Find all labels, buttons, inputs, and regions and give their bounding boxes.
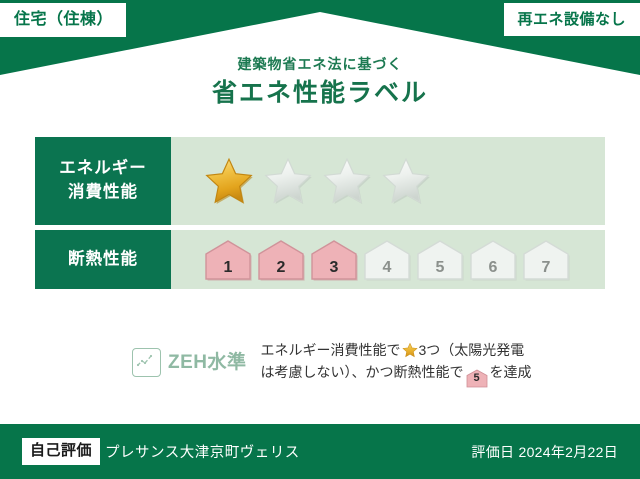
insulation-level-5: 5 — [415, 237, 465, 282]
insulation-level-4: 4 — [362, 237, 412, 282]
zeh-note-star-count: 3つ（太陽光発電 — [419, 342, 525, 358]
inline-insulation-house-icon: 5 — [466, 369, 488, 386]
insulation-level-value: 4 — [383, 260, 392, 282]
star-empty-icon — [321, 156, 373, 206]
performance-rows: エネルギー 消費性能 断熱性能 1234567 — [35, 137, 605, 289]
zeh-note-part2: は考慮しない）、かつ断熱性能で — [261, 364, 464, 380]
row-energy-label-line2: 消費性能 — [68, 181, 138, 205]
insulation-level-value: 3 — [330, 260, 339, 282]
building-name: プレサンス大津京町ヴェリス — [105, 441, 300, 462]
row-energy-performance: エネルギー 消費性能 — [35, 137, 605, 225]
page-title: 省エネ性能ラベル — [0, 78, 640, 109]
star-filled-icon — [203, 156, 255, 206]
star-empty-icon — [380, 156, 432, 206]
zeh-description: エネルギー消費性能で3つ（太陽光発電 は考慮しない）、かつ断熱性能で5を達成 — [261, 340, 562, 386]
row-energy-label: エネルギー 消費性能 — [35, 137, 171, 225]
title-block: 建築物省エネ法に基づく 省エネ性能ラベル — [0, 57, 640, 110]
insulation-level-1: 1 — [203, 237, 253, 282]
zeh-label: ZEH水準 — [168, 353, 247, 372]
insulation-level-value: 5 — [436, 260, 445, 282]
zeh-note-part1: エネルギー消費性能で — [261, 342, 401, 358]
self-evaluation-badge: 自己評価 — [22, 438, 100, 465]
insulation-level-3: 3 — [309, 237, 359, 282]
insulation-level-value: 1 — [224, 260, 233, 282]
insulation-level-value: 6 — [489, 260, 498, 282]
badge-building-type: 住宅（住棟） — [0, 3, 126, 37]
star-empty-icon — [262, 156, 314, 206]
row-insulation-value: 1234567 — [171, 230, 605, 289]
insulation-level-scale: 1234567 — [203, 237, 571, 282]
title-subtitle: 建築物省エネ法に基づく — [0, 57, 640, 72]
badge-renewable-energy: 再エネ設備なし — [504, 3, 640, 36]
zeh-standard-mark: ZEH水準 — [132, 348, 247, 377]
row-insulation-label: 断熱性能 — [35, 230, 171, 289]
insulation-level-6: 6 — [468, 237, 518, 282]
zeh-note-part3: を達成 — [490, 364, 532, 380]
zeh-chart-icon — [132, 348, 161, 377]
evaluation-date: 評価日 2024年2月22日 — [471, 442, 618, 462]
insulation-level-7: 7 — [521, 237, 571, 282]
inline-house-value: 5 — [466, 369, 488, 388]
row-insulation-performance: 断熱性能 1234567 — [35, 230, 605, 289]
insulation-level-2: 2 — [256, 237, 306, 282]
star-rating — [203, 156, 432, 206]
footer-bar: 自己評価 プレサンス大津京町ヴェリス 評価日 2024年2月22日 — [0, 424, 640, 479]
row-energy-value — [171, 137, 605, 225]
row-energy-label-line1: エネルギー — [59, 157, 147, 181]
row-insulation-label-line1: 断熱性能 — [68, 248, 138, 272]
insulation-level-value: 2 — [277, 260, 286, 282]
insulation-level-value: 7 — [542, 260, 551, 282]
inline-star-icon — [402, 342, 418, 358]
energy-performance-label: 住宅（住棟） 再エネ設備なし 建築物省エネ法に基づく 省エネ性能ラベル エネルギ… — [0, 0, 640, 479]
zeh-note-block: ZEH水準 エネルギー消費性能で3つ（太陽光発電 は考慮しない）、かつ断熱性能で… — [132, 340, 562, 386]
